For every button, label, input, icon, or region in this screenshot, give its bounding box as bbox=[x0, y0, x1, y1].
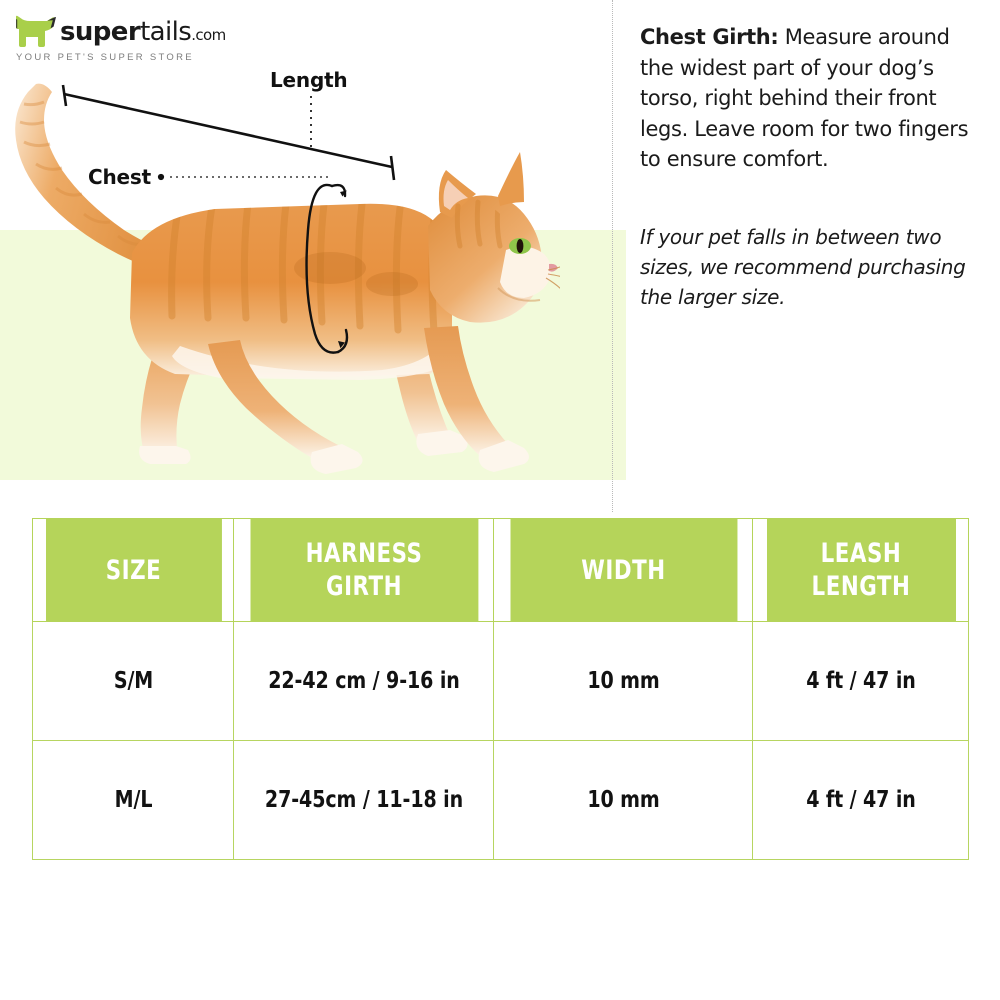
size-guide-page: supertails.com YOUR PET'S SUPER STORE bbox=[0, 0, 1000, 1000]
cell-harness-girth: 27-45cm / 11-18 in bbox=[244, 741, 483, 860]
chest-label: Chest bbox=[88, 165, 151, 189]
table-row: M/L 27-45cm / 11-18 in 10 mm 4 ft / 47 i… bbox=[33, 741, 969, 860]
column-header-leash-length: LEASH LENGTH bbox=[765, 519, 955, 622]
chest-girth-paragraph: Chest Girth: Measure around the widest p… bbox=[640, 22, 985, 175]
brand-name-light: tails bbox=[140, 17, 191, 47]
size-chart-table: SIZE HARNESS GIRTH WIDTH LEASH LENGTH S/… bbox=[32, 518, 969, 860]
brand-tagline: YOUR PET'S SUPER STORE bbox=[16, 52, 264, 63]
column-header-harness-girth: HARNESS GIRTH bbox=[249, 519, 478, 622]
cat-illustration bbox=[0, 78, 560, 480]
table-header-row: SIZE HARNESS GIRTH WIDTH LEASH LENGTH bbox=[33, 519, 969, 622]
cell-size: S/M bbox=[41, 622, 226, 741]
chest-girth-heading: Chest Girth: bbox=[640, 25, 778, 49]
between-sizes-note: If your pet falls in between two sizes, … bbox=[640, 222, 985, 312]
cell-harness-girth: 22-42 cm / 9-16 in bbox=[244, 622, 483, 741]
length-label: Length bbox=[270, 68, 347, 92]
cell-size: M/L bbox=[41, 741, 226, 860]
table-row: S/M 22-42 cm / 9-16 in 10 mm 4 ft / 47 i… bbox=[33, 622, 969, 741]
brand-name-bold: super bbox=[60, 17, 140, 47]
cell-leash-length: 4 ft / 47 in bbox=[761, 741, 960, 860]
cell-width: 10 mm bbox=[504, 741, 742, 860]
brand-domain-suffix: .com bbox=[191, 26, 225, 44]
column-header-size: SIZE bbox=[45, 519, 222, 622]
cell-leash-length: 4 ft / 47 in bbox=[761, 622, 960, 741]
brand-logo[interactable]: supertails.com YOUR PET'S SUPER STORE bbox=[14, 13, 264, 69]
vertical-dotted-divider bbox=[612, 0, 613, 512]
cell-width: 10 mm bbox=[504, 622, 742, 741]
brand-wordmark: supertails.com bbox=[60, 18, 226, 49]
info-column: Chest Girth: Measure around the widest p… bbox=[640, 0, 985, 332]
dog-silhouette-icon bbox=[14, 15, 58, 49]
column-header-width: WIDTH bbox=[509, 519, 737, 622]
